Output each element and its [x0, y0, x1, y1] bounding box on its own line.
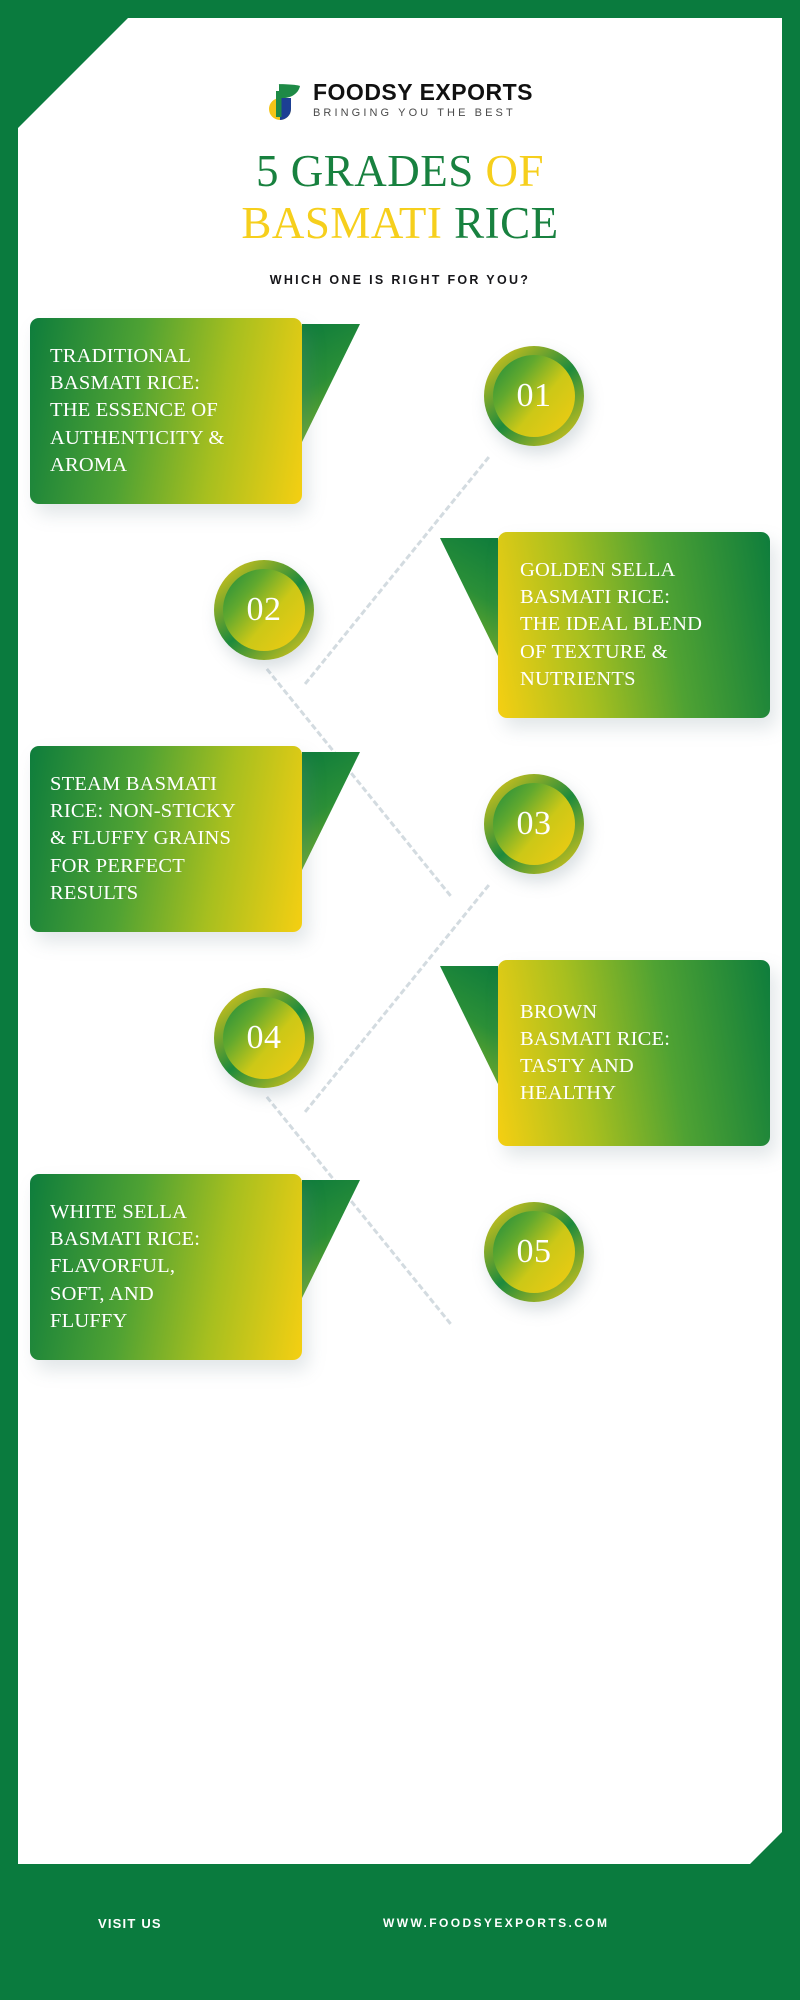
page-title-line-1: 5 GRADES OF	[18, 145, 782, 197]
grade-card-04[interactable]: BROWN BASMATI RICE: TASTY AND HEALTHY	[498, 960, 770, 1146]
brand-name: FOODSY EXPORTS	[313, 80, 533, 104]
card-tail-04	[440, 966, 498, 1084]
grade-step-03: STEAM BASMATI RICE: NON-STICKY & FLUFFY …	[18, 746, 782, 960]
grade-badge-04[interactable]: 04	[214, 988, 314, 1088]
grade-badge-04-inner: 04	[223, 997, 305, 1079]
grade-card-01[interactable]: TRADITIONAL BASMATI RICE: THE ESSENCE OF…	[30, 318, 302, 504]
page-subtitle: WHICH ONE IS RIGHT FOR YOU?	[18, 273, 782, 287]
grade-badge-05-inner: 05	[493, 1211, 575, 1293]
grade-card-05-text: WHITE SELLA BASMATI RICE: FLAVORFUL, SOF…	[30, 1199, 218, 1334]
grade-badge-03[interactable]: 03	[484, 774, 584, 874]
grade-badge-03-number: 03	[517, 805, 552, 843]
grade-badge-04-number: 04	[247, 1019, 282, 1057]
page-footer: VISIT US WWW.FOODSYEXPORTS.COM	[18, 1864, 782, 1982]
card-tail-02	[440, 538, 498, 656]
card-tail-05	[302, 1180, 360, 1298]
grade-step-01: TRADITIONAL BASMATI RICE: THE ESSENCE OF…	[18, 318, 782, 532]
brand-tagline: BRINGING YOU THE BEST	[313, 105, 533, 123]
page-title-line2-green: RICE	[454, 198, 559, 248]
grade-badge-05-number: 05	[517, 1233, 552, 1271]
page-title-line-2: BASMATI RICE	[18, 197, 782, 249]
grade-card-04-text: BROWN BASMATI RICE: TASTY AND HEALTHY	[498, 999, 688, 1107]
infographic-header: FOODSY EXPORTS BRINGING YOU THE BEST 5 G…	[18, 18, 782, 287]
grade-card-02[interactable]: GOLDEN SELLA BASMATI RICE: THE IDEAL BLE…	[498, 532, 770, 718]
page-title-line2-yellow: BASMATI	[241, 198, 454, 248]
grade-badge-02[interactable]: 02	[214, 560, 314, 660]
grade-badge-02-inner: 02	[223, 569, 305, 651]
grade-badge-01-number: 01	[517, 377, 552, 415]
brand-lockup: FOODSY EXPORTS BRINGING YOU THE BEST	[18, 80, 782, 123]
page-title: 5 GRADES OF BASMATI RICE	[18, 145, 782, 249]
brand-text-block: FOODSY EXPORTS BRINGING YOU THE BEST	[313, 80, 533, 123]
grade-badge-02-number: 02	[247, 591, 282, 629]
footer-website-link[interactable]: WWW.FOODSYEXPORTS.COM	[383, 1916, 609, 1930]
grade-card-01-text: TRADITIONAL BASMATI RICE: THE ESSENCE OF…	[30, 343, 243, 478]
grade-badge-03-inner: 03	[493, 783, 575, 865]
grade-badge-05[interactable]: 05	[484, 1202, 584, 1302]
card-tail-01	[302, 324, 360, 442]
grade-badge-01[interactable]: 01	[484, 346, 584, 446]
grade-card-05[interactable]: WHITE SELLA BASMATI RICE: FLAVORFUL, SOF…	[30, 1174, 302, 1360]
grade-card-03[interactable]: STEAM BASMATI RICE: NON-STICKY & FLUFFY …	[30, 746, 302, 932]
card-tail-03	[302, 752, 360, 870]
grade-badge-01-inner: 01	[493, 355, 575, 437]
page-content-panel: FOODSY EXPORTS BRINGING YOU THE BEST 5 G…	[18, 18, 782, 1982]
grade-step-04: BROWN BASMATI RICE: TASTY AND HEALTHY 04	[18, 960, 782, 1174]
grade-step-02: GOLDEN SELLA BASMATI RICE: THE IDEAL BLE…	[18, 532, 782, 746]
grade-card-03-text: STEAM BASMATI RICE: NON-STICKY & FLUFFY …	[30, 771, 254, 906]
foodsy-leaf-logo-icon	[267, 81, 303, 121]
page-title-line1-green: 5 GRADES	[256, 146, 486, 196]
grade-step-05: WHITE SELLA BASMATI RICE: FLAVORFUL, SOF…	[18, 1174, 782, 1388]
page-title-line1-yellow: OF	[486, 146, 545, 196]
grade-card-02-text: GOLDEN SELLA BASMATI RICE: THE IDEAL BLE…	[498, 557, 720, 692]
footer-visit-label: VISIT US	[98, 1916, 162, 1931]
